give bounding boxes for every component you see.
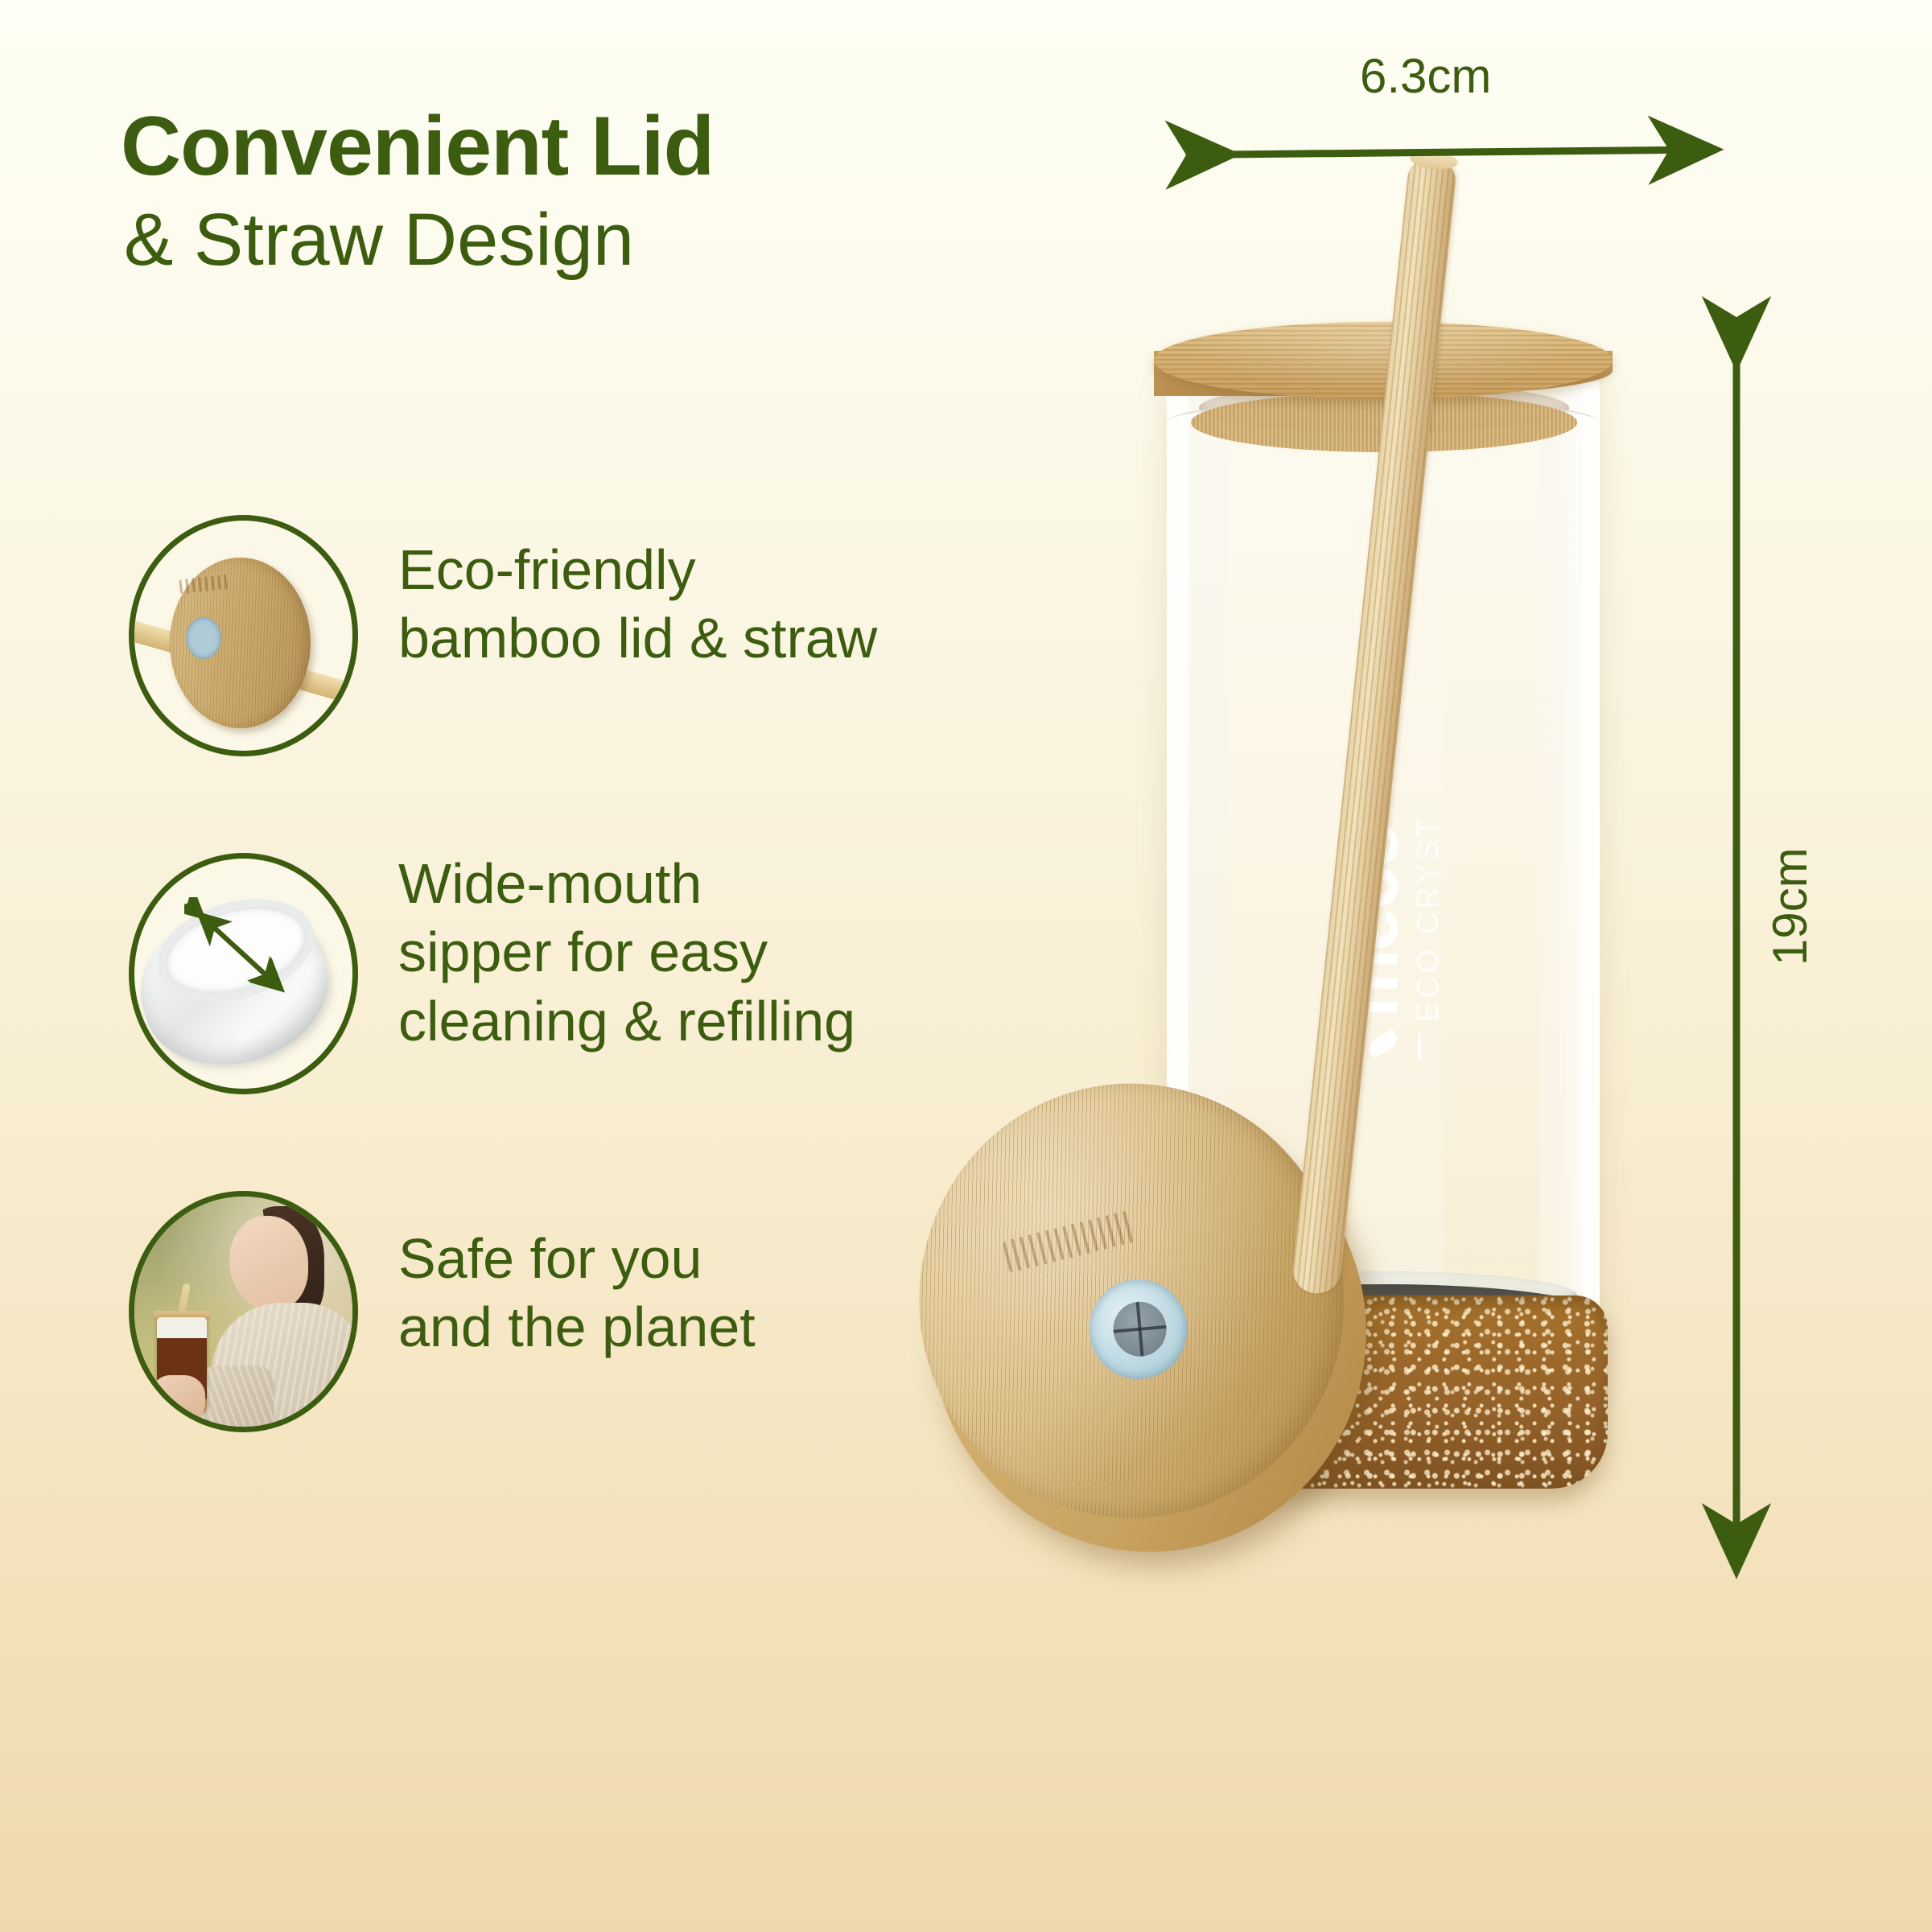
dimension-overlay [0,0,1932,1932]
width-dimension-arrow [1223,150,1706,154]
width-dimension-label: 6.3cm [1360,48,1491,104]
height-dimension-label: 19cm [1762,847,1818,966]
